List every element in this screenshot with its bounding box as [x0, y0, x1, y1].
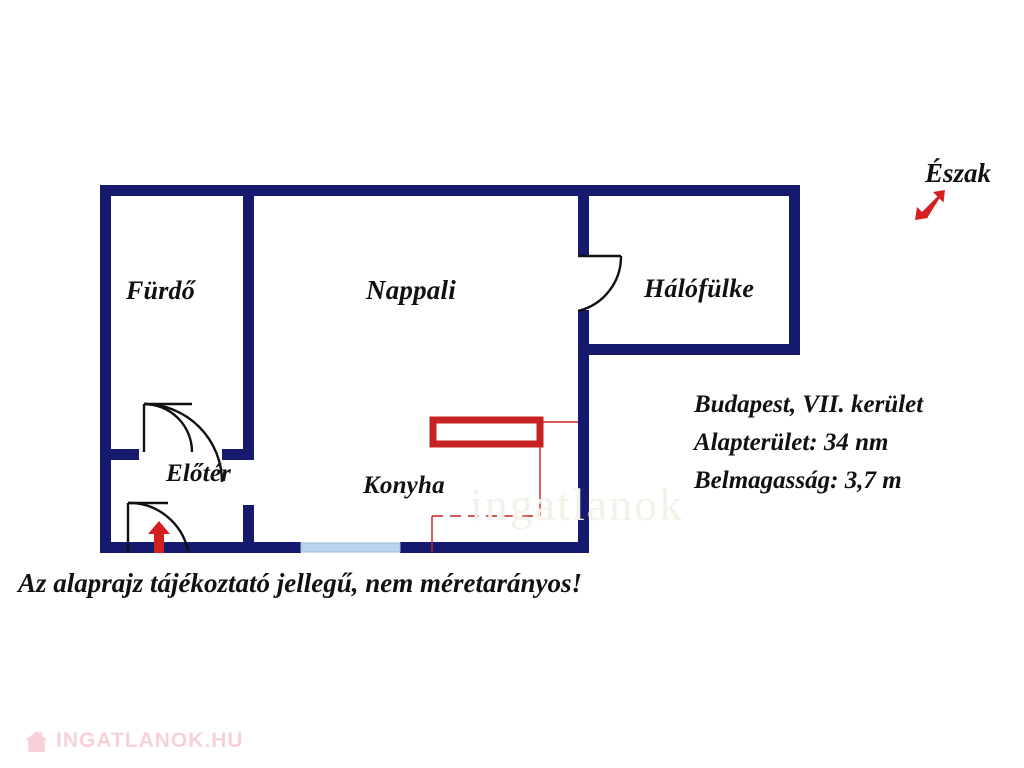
info-location: Budapest, VII. kerület: [694, 386, 1024, 424]
room-label-konyha: Konyha: [363, 472, 445, 500]
wall-nappali-halofulke-lower: [578, 310, 589, 355]
floor-plan-canvas: Fürdő Nappali Hálófülke Előtér Konyha És…: [0, 0, 1024, 768]
property-info-block: Budapest, VII. kerület Alapterület: 34 n…: [694, 386, 1024, 500]
north-arrow-icon: [913, 188, 947, 222]
window-bottom: [301, 543, 400, 552]
compass-north: Észak: [905, 158, 1024, 228]
wall-eloter-stub-right: [243, 505, 254, 553]
wall-bottom-left: [100, 542, 301, 553]
wall-furdo-nappali: [243, 185, 254, 455]
kitchen-counter: [433, 420, 540, 444]
wall-top: [100, 185, 800, 196]
room-label-nappali: Nappali: [366, 275, 456, 306]
wall-nappali-halofulke: [578, 185, 589, 255]
entrance-arrow-icon: [146, 520, 172, 554]
wall-right-upper: [789, 185, 800, 355]
floor-plan-drawing: [0, 0, 1024, 768]
wall-left: [100, 185, 111, 553]
info-ceiling-height: Belmagasság: 3,7 m: [694, 462, 1024, 500]
wall-furdo-eloter: [100, 449, 139, 460]
room-label-halofulke: Hálófülke: [644, 274, 754, 304]
kitchen-fixture-group: [432, 420, 578, 552]
room-label-eloter: Előtér: [166, 460, 231, 488]
disclaimer-text: Az alaprajz tájékoztató jellegű, nem mér…: [18, 568, 582, 599]
room-label-furdo: Fürdő: [126, 276, 195, 306]
wall-right-lower: [578, 344, 589, 553]
wall-group-interior: [100, 185, 589, 553]
compass-label: Észak: [925, 158, 991, 189]
door-furdo-arc: [144, 404, 192, 452]
wall-furdo-eloter-right: [222, 449, 254, 460]
info-floor-area: Alapterület: 34 nm: [694, 424, 1024, 462]
wall-bedroom-bottom: [578, 344, 800, 355]
wall-bottom-right: [400, 542, 589, 553]
door-halofulke-arc: [578, 256, 621, 311]
